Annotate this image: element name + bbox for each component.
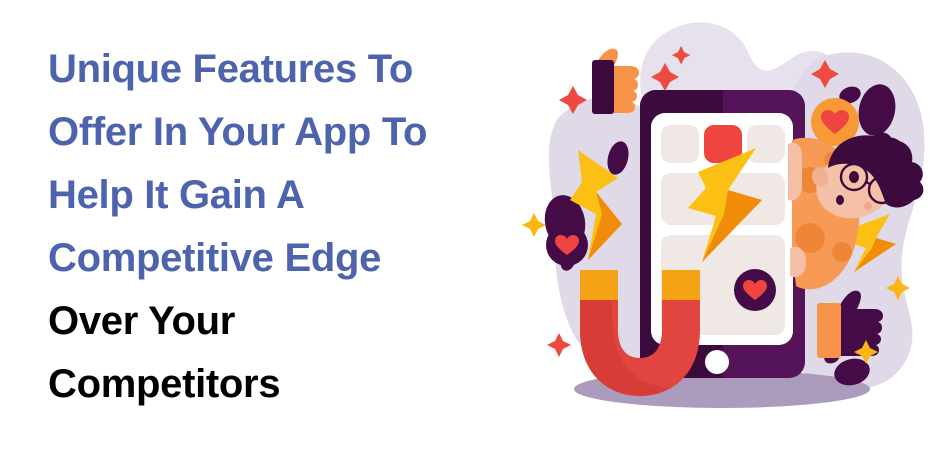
heart-badge-left <box>546 224 588 266</box>
headline-line-1: Unique Features To <box>48 38 548 101</box>
home-button[interactable] <box>705 350 729 374</box>
headline-line-4: Competitive Edge <box>48 227 548 290</box>
thumbs-up-orange <box>592 49 639 114</box>
headline-line-2: Offer In Your App To <box>48 101 548 164</box>
screen-card-tile-3[interactable] <box>747 125 785 163</box>
magnet-pole-left <box>580 270 618 300</box>
page-title: Unique Features To Offer In Your App To … <box>48 38 548 416</box>
screen-card-tile-1[interactable] <box>661 125 699 163</box>
headline-line-3: Help It Gain A <box>48 164 548 227</box>
promo-banner: Unique Features To Offer In Your App To … <box>0 0 950 450</box>
headline-line-6: Competitors <box>48 353 548 416</box>
heart-badge-phone <box>734 269 776 311</box>
magnet-pole-right <box>662 270 700 300</box>
hero-illustration <box>510 0 950 450</box>
headline-line-5: Over Your <box>48 290 548 353</box>
